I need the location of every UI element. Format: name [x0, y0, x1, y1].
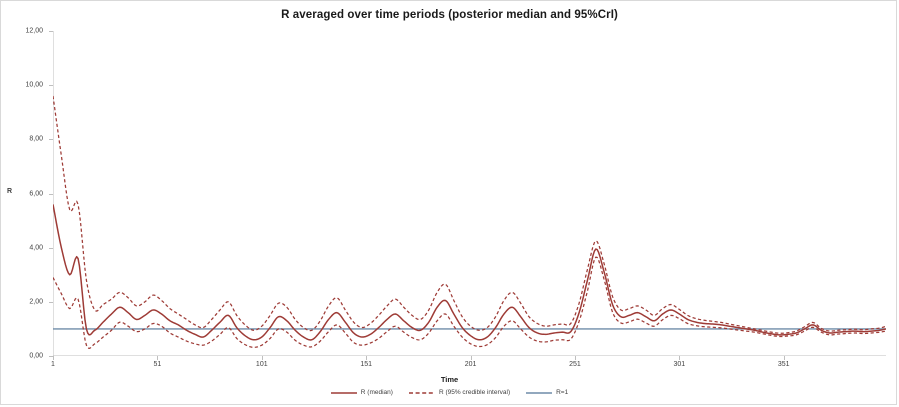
x-axis-tick-label: 1	[51, 361, 55, 368]
x-axis-tick-mark	[262, 356, 263, 360]
x-axis-tick-mark	[471, 356, 472, 360]
y-axis-tick-label: 2,00	[3, 298, 43, 305]
chart-legend: R (median)R (95% credible interval)R=1	[1, 389, 898, 396]
x-axis-tick-label: 351	[778, 361, 790, 368]
x-axis-tick-label: 101	[256, 361, 268, 368]
x-axis-tick-label: 301	[673, 361, 685, 368]
x-axis-title: Time	[1, 375, 898, 384]
chart-title: R averaged over time periods (posterior …	[1, 9, 898, 21]
x-axis-tick-mark	[53, 356, 54, 360]
legend-swatch-dashed-icon	[409, 390, 435, 396]
x-axis-tick-label: 251	[569, 361, 581, 368]
x-axis-tick-mark	[679, 356, 680, 360]
y-axis-tick-label: 12,00	[3, 28, 43, 35]
legend-swatch-solid-icon	[526, 390, 552, 396]
chart-container: R averaged over time periods (posterior …	[0, 0, 897, 405]
credible-interval-upper-line	[53, 96, 886, 333]
x-axis-tick-mark	[784, 356, 785, 360]
legend-label: R=1	[556, 389, 568, 396]
legend-label: R (95% credible interval)	[439, 389, 510, 396]
plot-svg	[53, 31, 886, 356]
x-axis-tick-label: 51	[153, 361, 161, 368]
plot-area	[53, 31, 886, 356]
y-axis-tick-label: 10,00	[3, 82, 43, 89]
legend-swatch-solid-icon	[331, 390, 357, 396]
x-axis-tick-mark	[366, 356, 367, 360]
y-axis-tick-label: 8,00	[3, 136, 43, 143]
x-axis-tick-label: 151	[360, 361, 372, 368]
legend-item[interactable]: R=1	[526, 389, 568, 396]
legend-item[interactable]: R (median)	[331, 389, 393, 396]
x-axis-tick-label: 201	[465, 361, 477, 368]
x-axis-tick-mark	[157, 356, 158, 360]
legend-item[interactable]: R (95% credible interval)	[409, 389, 510, 396]
x-axis-tick-mark	[575, 356, 576, 360]
y-axis-tick-label: 4,00	[3, 244, 43, 251]
median-line	[53, 204, 886, 340]
y-axis-tick-label: 0,00	[3, 353, 43, 360]
y-axis-tick-label: 6,00	[3, 190, 43, 197]
legend-label: R (median)	[361, 389, 393, 396]
